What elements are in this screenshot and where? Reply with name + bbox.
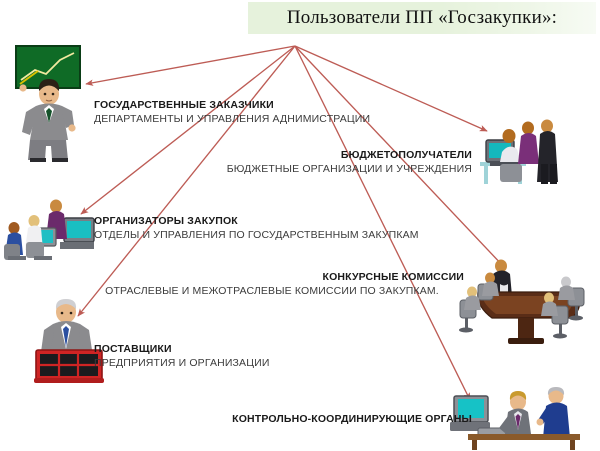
arrow-to-procurement-organizers (81, 46, 295, 214)
diagram-canvas: Пользователи ПП «Госзакупки»: (0, 0, 600, 451)
group-title-suppliers: ПОСТАВЩИКИ (94, 340, 448, 356)
group-title-state-customers: ГОСУДАРСТВЕННЫЕ ЗАКАЗЧИКИ (94, 96, 488, 112)
arrow-to-state-customers (86, 46, 295, 84)
group-state-customers: ГОСУДАРСТВЕННЫЕ ЗАКАЗЧИКИ ДЕПАРТАМЕНТЫ И… (88, 96, 488, 130)
group-title-budget-recipients: БЮДЖЕТОПОЛУЧАТЕЛИ (180, 146, 480, 162)
group-title-tender-commissions: КОНКУРСНЫЕ КОМИССИИ (72, 268, 472, 284)
group-suppliers: ПОСТАВЩИКИ ПРЕДПРИЯТИЯ И ОРГАНИЗАЦИИ (88, 340, 448, 374)
group-title-control-bodies: КОНТРОЛЬНО-КООРДИНИРУЮЩИЕ ОРГАНЫ (150, 410, 476, 426)
group-subtitle-budget-recipients: БЮДЖЕТНЫЕ ОРГАНИЗАЦИИ И УЧРЕЖДЕНИЯ (180, 162, 480, 177)
group-budget-recipients: БЮДЖЕТОПОЛУЧАТЕЛИ БЮДЖЕТНЫЕ ОРГАНИЗАЦИИ … (180, 146, 480, 180)
group-procurement-organizers: ОРГАНИЗАТОРЫ ЗАКУПОК ОТДЕЛЫ И УПРАВЛЕНИЯ… (88, 212, 488, 246)
group-control-bodies: КОНТРОЛЬНО-КООРДИНИРУЮЩИЕ ОРГАНЫ (150, 410, 476, 428)
group-subtitle-state-customers: ДЕПАРТАМЕНТЫ И УПРАВЛЕНИЯ АДНИМИСТРАЦИИ (94, 112, 488, 127)
group-tender-commissions: КОНКУРСНЫЕ КОМИССИИ ОТРАСЛЕВЫЕ И МЕЖОТРА… (72, 268, 472, 302)
conference-table-meeting-icon (456, 244, 596, 352)
group-title-procurement-organizers: ОРГАНИЗАТОРЫ ЗАКУПОК (94, 212, 488, 228)
group-subtitle-tender-commissions: ОТРАСЛЕВЫЕ И МЕЖОТРАСЛЕВЫЕ КОМИССИИ ПО З… (72, 284, 472, 299)
group-subtitle-suppliers: ПРЕДПРИЯТИЯ И ОРГАНИЗАЦИИ (94, 356, 448, 371)
group-subtitle-procurement-organizers: ОТДЕЛЫ И УПРАВЛЕНИЯ ПО ГОСУДАРСТВЕННЫМ З… (94, 228, 488, 243)
three-people-at-computer-icon (478, 112, 582, 188)
teacher-at-chalkboard-icon (8, 44, 94, 164)
